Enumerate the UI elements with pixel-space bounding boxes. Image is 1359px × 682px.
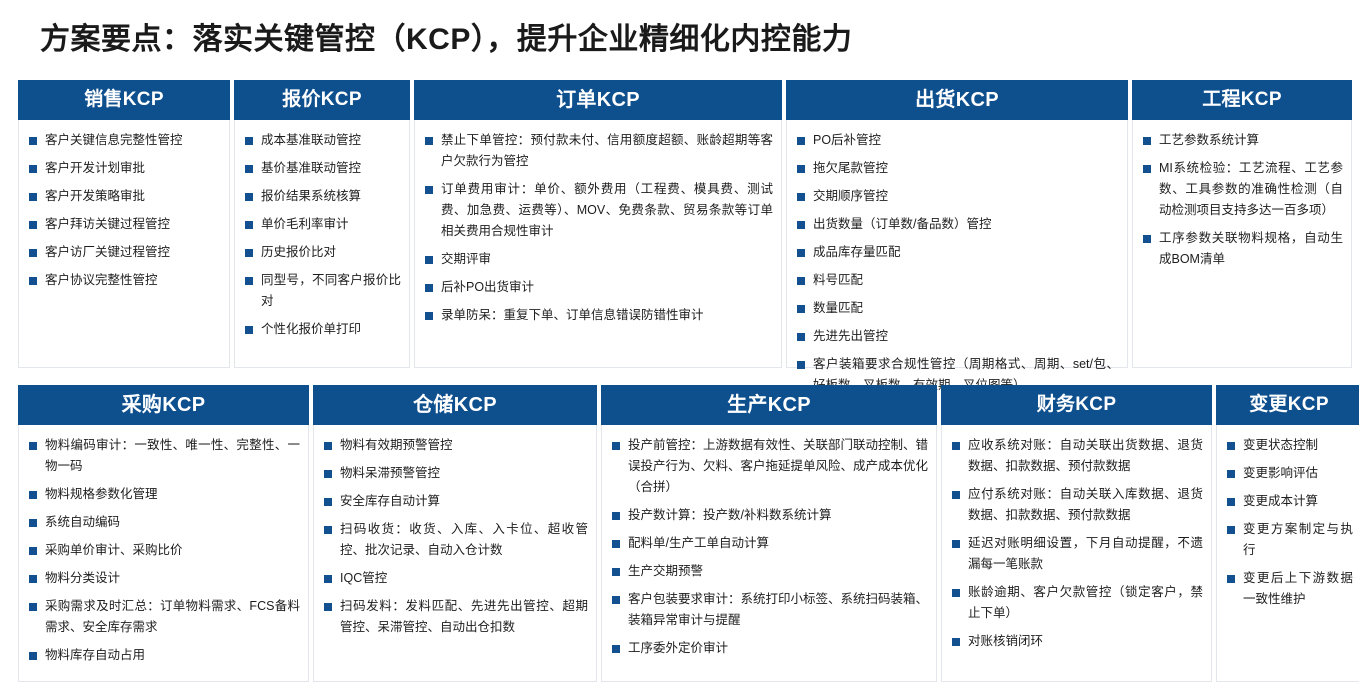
square-bullet-icon	[952, 540, 960, 548]
square-bullet-icon	[425, 284, 433, 292]
list-item: 报价结果系统核算	[243, 186, 401, 207]
square-bullet-icon	[29, 249, 37, 257]
list-item: 客户拜访关键过程管控	[27, 214, 221, 235]
list-item: 订单费用审计：单价、额外费用（工程费、模具费、测试费、加急费、运费等）、MOV、…	[423, 179, 773, 242]
list-item-label: 工序参数关联物料规格，自动生成BOM清单	[1159, 231, 1343, 266]
list-item-label: 个性化报价单打印	[261, 322, 361, 336]
list-item-label: IQC管控	[340, 571, 387, 585]
square-bullet-icon	[952, 491, 960, 499]
square-bullet-icon	[29, 603, 37, 611]
list-item-label: 物料库存自动占用	[45, 648, 145, 662]
kcp-row-1: 销售KCP 客户关键信息完整性管控 客户开发计划审批 客户开发策略审批 客户拜访…	[18, 80, 1344, 368]
list-item: 客户开发计划审批	[27, 158, 221, 179]
square-bullet-icon	[245, 326, 253, 334]
list-item: 交期评审	[423, 249, 773, 270]
square-bullet-icon	[425, 312, 433, 320]
list-item-label: 客户协议完整性管控	[45, 273, 158, 287]
list-item: 安全库存自动计算	[322, 491, 588, 512]
kcp-card-change[interactable]: 变更KCP 变更状态控制 变更影响评估 变更成本计算 变更方案制定与执行 变更后…	[1216, 385, 1359, 682]
square-bullet-icon	[29, 442, 37, 450]
kcp-list-storage: 物料有效期预警管控 物料呆滞预警管控 安全库存自动计算 扫码收货：收货、入库、入…	[322, 435, 588, 638]
square-bullet-icon	[29, 519, 37, 527]
list-item: 物料有效期预警管控	[322, 435, 588, 456]
list-item-label: MI系统检验：工艺流程、工艺参数、工具参数的准确性检测（自动检测项目支持多达一百…	[1159, 161, 1343, 217]
list-item-label: 报价结果系统核算	[261, 189, 361, 203]
list-item-label: 客户开发计划审批	[45, 161, 145, 175]
list-item: 客户包装要求审计：系统打印小标签、系统扫码装箱、装箱异常审计与提醒	[610, 589, 928, 631]
kcp-card-body-sales: 客户关键信息完整性管控 客户开发计划审批 客户开发策略审批 客户拜访关键过程管控…	[19, 120, 229, 367]
kcp-card-title-order: 订单KCP	[414, 80, 782, 120]
square-bullet-icon	[29, 575, 37, 583]
list-item: 历史报价比对	[243, 242, 401, 263]
kcp-card-body-change: 变更状态控制 变更影响评估 变更成本计算 变更方案制定与执行 变更后上下游数据一…	[1217, 425, 1359, 681]
list-item: 录单防呆：重复下单、订单信息错误防错性审计	[423, 305, 773, 326]
list-item-label: 历史报价比对	[261, 245, 336, 259]
list-item: 出货数量（订单数/备品数）管控	[795, 214, 1119, 235]
square-bullet-icon	[797, 165, 805, 173]
square-bullet-icon	[1227, 470, 1235, 478]
square-bullet-icon	[612, 645, 620, 653]
square-bullet-icon	[1143, 137, 1151, 145]
kcp-card-finance[interactable]: 财务KCP 应收系统对账：自动关联出货数据、退货数据、扣款数据、预付款数据 应付…	[941, 385, 1212, 682]
kcp-list-finance: 应收系统对账：自动关联出货数据、退货数据、扣款数据、预付款数据 应付系统对账：自…	[950, 435, 1203, 652]
list-item-label: 工艺参数系统计算	[1159, 133, 1259, 147]
square-bullet-icon	[797, 137, 805, 145]
list-item-label: 安全库存自动计算	[340, 494, 440, 508]
kcp-list-sales: 客户关键信息完整性管控 客户开发计划审批 客户开发策略审批 客户拜访关键过程管控…	[27, 130, 221, 291]
list-item-label: 扫码发料：发料匹配、先进先出管控、超期管控、呆滞管控、自动出仓扣数	[340, 599, 588, 634]
square-bullet-icon	[324, 575, 332, 583]
square-bullet-icon	[952, 442, 960, 450]
square-bullet-icon	[797, 305, 805, 313]
square-bullet-icon	[425, 137, 433, 145]
square-bullet-icon	[29, 193, 37, 201]
list-item: 物料规格参数化管理	[27, 484, 300, 505]
list-item-label: 应付系统对账：自动关联入库数据、退货数据、扣款数据、预付款数据	[968, 487, 1203, 522]
list-item-label: 变更后上下游数据一致性维护	[1243, 571, 1353, 606]
list-item: 基价基准联动管控	[243, 158, 401, 179]
square-bullet-icon	[324, 603, 332, 611]
square-bullet-icon	[797, 193, 805, 201]
list-item: 采购单价审计、采购比价	[27, 540, 300, 561]
kcp-card-body-storage: 物料有效期预警管控 物料呆滞预警管控 安全库存自动计算 扫码收货：收货、入库、入…	[314, 425, 596, 681]
kcp-card-order[interactable]: 订单KCP 禁止下单管控：预付款未付、信用额度超额、账龄超期等客户欠款行为管控 …	[414, 80, 782, 368]
kcp-row-2: 采购KCP 物料编码审计：一致性、唯一性、完整性、一物一码 物料规格参数化管理 …	[18, 385, 1344, 682]
list-item-label: 生产交期预警	[628, 564, 703, 578]
square-bullet-icon	[29, 547, 37, 555]
list-item: 变更影响评估	[1225, 463, 1353, 484]
list-item: 应付系统对账：自动关联入库数据、退货数据、扣款数据、预付款数据	[950, 484, 1203, 526]
kcp-card-body-purchase: 物料编码审计：一致性、唯一性、完整性、一物一码 物料规格参数化管理 系统自动编码…	[19, 425, 308, 681]
kcp-list-change: 变更状态控制 变更影响评估 变更成本计算 变更方案制定与执行 变更后上下游数据一…	[1225, 435, 1353, 610]
square-bullet-icon	[29, 491, 37, 499]
square-bullet-icon	[1227, 526, 1235, 534]
square-bullet-icon	[612, 596, 620, 604]
kcp-list-order: 禁止下单管控：预付款未付、信用额度超额、账龄超期等客户欠款行为管控 订单费用审计…	[423, 130, 773, 326]
list-item-label: 单价毛利率审计	[261, 217, 349, 231]
list-item-label: 基价基准联动管控	[261, 161, 361, 175]
square-bullet-icon	[797, 333, 805, 341]
list-item: 工序委外定价审计	[610, 638, 928, 659]
list-item: 物料呆滞预警管控	[322, 463, 588, 484]
list-item: 成本基准联动管控	[243, 130, 401, 151]
square-bullet-icon	[1227, 498, 1235, 506]
list-item: 成品库存量匹配	[795, 242, 1119, 263]
square-bullet-icon	[425, 256, 433, 264]
kcp-card-production[interactable]: 生产KCP 投产前管控：上游数据有效性、关联部门联动控制、错误投产行为、欠料、客…	[601, 385, 937, 682]
list-item-label: 拖欠尾款管控	[813, 161, 888, 175]
kcp-card-quote[interactable]: 报价KCP 成本基准联动管控 基价基准联动管控 报价结果系统核算 单价毛利率审计…	[234, 80, 410, 368]
list-item-label: 扫码收货：收货、入库、入卡位、超收管控、批次记录、自动入仓计数	[340, 522, 588, 557]
kcp-list-production: 投产前管控：上游数据有效性、关联部门联动控制、错误投产行为、欠料、客户拖延提单风…	[610, 435, 928, 659]
kcp-card-title-change: 变更KCP	[1216, 385, 1359, 425]
list-item: 客户访厂关键过程管控	[27, 242, 221, 263]
square-bullet-icon	[245, 249, 253, 257]
list-item-label: 变更影响评估	[1243, 466, 1318, 480]
list-item-label: 成本基准联动管控	[261, 133, 361, 147]
square-bullet-icon	[612, 568, 620, 576]
square-bullet-icon	[952, 638, 960, 646]
list-item: 变更状态控制	[1225, 435, 1353, 456]
kcp-card-shipping[interactable]: 出货KCP PO后补管控 拖欠尾款管控 交期顺序管控 出货数量（订单数/备品数）…	[786, 80, 1128, 368]
list-item-label: 禁止下单管控：预付款未付、信用额度超额、账龄超期等客户欠款行为管控	[441, 133, 773, 168]
list-item: 应收系统对账：自动关联出货数据、退货数据、扣款数据、预付款数据	[950, 435, 1203, 477]
list-item-label: 采购单价审计、采购比价	[45, 543, 183, 557]
list-item-label: 客户访厂关键过程管控	[45, 245, 170, 259]
list-item: 单价毛利率审计	[243, 214, 401, 235]
list-item-label: 数量匹配	[813, 301, 863, 315]
list-item: 配料单/生产工单自动计算	[610, 533, 928, 554]
square-bullet-icon	[324, 526, 332, 534]
square-bullet-icon	[245, 277, 253, 285]
kcp-card-title-shipping: 出货KCP	[786, 80, 1128, 120]
list-item-label: 成品库存量匹配	[813, 245, 901, 259]
square-bullet-icon	[324, 470, 332, 478]
square-bullet-icon	[29, 137, 37, 145]
list-item-label: 先进先出管控	[813, 329, 888, 343]
list-item-label: 客户包装要求审计：系统打印小标签、系统扫码装箱、装箱异常审计与提醒	[628, 592, 928, 627]
kcp-card-title-engineering: 工程KCP	[1132, 80, 1352, 120]
list-item: 料号匹配	[795, 270, 1119, 291]
kcp-card-title-sales: 销售KCP	[18, 80, 230, 120]
list-item-label: 客户关键信息完整性管控	[45, 133, 183, 147]
kcp-card-engineering[interactable]: 工程KCP 工艺参数系统计算 MI系统检验：工艺流程、工艺参数、工具参数的准确性…	[1132, 80, 1352, 368]
square-bullet-icon	[612, 540, 620, 548]
list-item-label: 后补PO出货审计	[441, 280, 534, 294]
list-item: 变更方案制定与执行	[1225, 519, 1353, 561]
list-item: 账龄逾期、客户欠款管控（锁定客户，禁止下单）	[950, 582, 1203, 624]
list-item: 投产前管控：上游数据有效性、关联部门联动控制、错误投产行为、欠料、客户拖延提单风…	[610, 435, 928, 498]
square-bullet-icon	[29, 652, 37, 660]
square-bullet-icon	[245, 193, 253, 201]
list-item-label: 物料编码审计：一致性、唯一性、完整性、一物一码	[45, 438, 300, 473]
list-item: 禁止下单管控：预付款未付、信用额度超额、账龄超期等客户欠款行为管控	[423, 130, 773, 172]
kcp-list-quote: 成本基准联动管控 基价基准联动管控 报价结果系统核算 单价毛利率审计 历史报价比…	[243, 130, 401, 340]
square-bullet-icon	[324, 498, 332, 506]
square-bullet-icon	[245, 137, 253, 145]
square-bullet-icon	[952, 589, 960, 597]
kcp-card-purchase[interactable]: 采购KCP 物料编码审计：一致性、唯一性、完整性、一物一码 物料规格参数化管理 …	[18, 385, 309, 682]
list-item-label: 客户开发策略审批	[45, 189, 145, 203]
kcp-card-title-finance: 财务KCP	[941, 385, 1212, 425]
list-item-label: 料号匹配	[813, 273, 863, 287]
list-item: 客户关键信息完整性管控	[27, 130, 221, 151]
list-item-label: 账龄逾期、客户欠款管控（锁定客户，禁止下单）	[968, 585, 1203, 620]
kcp-card-sales[interactable]: 销售KCP 客户关键信息完整性管控 客户开发计划审批 客户开发策略审批 客户拜访…	[18, 80, 230, 368]
square-bullet-icon	[29, 277, 37, 285]
square-bullet-icon	[29, 221, 37, 229]
kcp-list-engineering: 工艺参数系统计算 MI系统检验：工艺流程、工艺参数、工具参数的准确性检测（自动检…	[1141, 130, 1343, 270]
square-bullet-icon	[1227, 442, 1235, 450]
list-item-label: 系统自动编码	[45, 515, 120, 529]
list-item: 扫码收货：收货、入库、入卡位、超收管控、批次记录、自动入仓计数	[322, 519, 588, 561]
square-bullet-icon	[245, 165, 253, 173]
list-item: 个性化报价单打印	[243, 319, 401, 340]
square-bullet-icon	[797, 249, 805, 257]
list-item: 工艺参数系统计算	[1141, 130, 1343, 151]
list-item: 交期顺序管控	[795, 186, 1119, 207]
list-item: 采购需求及时汇总：订单物料需求、FCS备料需求、安全库存需求	[27, 596, 300, 638]
list-item-label: 同型号，不同客户报价比对	[261, 273, 401, 308]
list-item-label: 订单费用审计：单价、额外费用（工程费、模具费、测试费、加急费、运费等）、MOV、…	[441, 182, 773, 238]
square-bullet-icon	[1227, 575, 1235, 583]
list-item-label: 物料规格参数化管理	[45, 487, 158, 501]
list-item: 先进先出管控	[795, 326, 1119, 347]
kcp-card-title-purchase: 采购KCP	[18, 385, 309, 425]
kcp-card-body-quote: 成本基准联动管控 基价基准联动管控 报价结果系统核算 单价毛利率审计 历史报价比…	[235, 120, 409, 367]
page-title: 方案要点：落实关键管控（KCP），提升企业精细化内控能力	[40, 14, 852, 58]
square-bullet-icon	[612, 512, 620, 520]
list-item-label: 客户拜访关键过程管控	[45, 217, 170, 231]
list-item-label: 物料有效期预警管控	[340, 438, 453, 452]
list-item: 同型号，不同客户报价比对	[243, 270, 401, 312]
list-item: 物料分类设计	[27, 568, 300, 589]
list-item: 工序参数关联物料规格，自动生成BOM清单	[1141, 228, 1343, 270]
list-item: 后补PO出货审计	[423, 277, 773, 298]
kcp-card-body-production: 投产前管控：上游数据有效性、关联部门联动控制、错误投产行为、欠料、客户拖延提单风…	[602, 425, 936, 681]
list-item: 对账核销闭环	[950, 631, 1203, 652]
list-item: 数量匹配	[795, 298, 1119, 319]
list-item: 物料编码审计：一致性、唯一性、完整性、一物一码	[27, 435, 300, 477]
list-item: 物料库存自动占用	[27, 645, 300, 666]
list-item: 系统自动编码	[27, 512, 300, 533]
square-bullet-icon	[425, 186, 433, 194]
list-item: 客户协议完整性管控	[27, 270, 221, 291]
list-item: MI系统检验：工艺流程、工艺参数、工具参数的准确性检测（自动检测项目支持多达一百…	[1141, 158, 1343, 221]
list-item: IQC管控	[322, 568, 588, 589]
kcp-card-title-production: 生产KCP	[601, 385, 937, 425]
list-item: PO后补管控	[795, 130, 1119, 151]
list-item: 扫码发料：发料匹配、先进先出管控、超期管控、呆滞管控、自动出仓扣数	[322, 596, 588, 638]
list-item-label: 交期顺序管控	[813, 189, 888, 203]
kcp-card-title-storage: 仓储KCP	[313, 385, 597, 425]
square-bullet-icon	[324, 442, 332, 450]
square-bullet-icon	[29, 165, 37, 173]
list-item-label: 变更方案制定与执行	[1243, 522, 1353, 557]
list-item-label: 投产前管控：上游数据有效性、关联部门联动控制、错误投产行为、欠料、客户拖延提单风…	[628, 438, 928, 494]
square-bullet-icon	[797, 277, 805, 285]
list-item-label: 投产数计算：投产数/补料数系统计算	[628, 508, 831, 522]
list-item: 拖欠尾款管控	[795, 158, 1119, 179]
square-bullet-icon	[1143, 165, 1151, 173]
list-item-label: 对账核销闭环	[968, 634, 1043, 648]
list-item-label: 工序委外定价审计	[628, 641, 728, 655]
list-item-label: 录单防呆：重复下单、订单信息错误防错性审计	[441, 308, 704, 322]
list-item-label: 变更成本计算	[1243, 494, 1318, 508]
list-item: 生产交期预警	[610, 561, 928, 582]
kcp-card-storage[interactable]: 仓储KCP 物料有效期预警管控 物料呆滞预警管控 安全库存自动计算 扫码收货：收…	[313, 385, 597, 682]
slide-root: 方案要点：落实关键管控（KCP），提升企业精细化内控能力 销售KCP 客户关键信…	[0, 0, 1359, 682]
list-item-label: 延迟对账明细设置，下月自动提醒，不遗漏每一笔账款	[968, 536, 1203, 571]
kcp-card-body-finance: 应收系统对账：自动关联出货数据、退货数据、扣款数据、预付款数据 应付系统对账：自…	[942, 425, 1211, 681]
square-bullet-icon	[797, 361, 805, 369]
square-bullet-icon	[1143, 235, 1151, 243]
kcp-card-body-engineering: 工艺参数系统计算 MI系统检验：工艺流程、工艺参数、工具参数的准确性检测（自动检…	[1133, 120, 1351, 367]
kcp-card-title-quote: 报价KCP	[234, 80, 410, 120]
list-item-label: 交期评审	[441, 252, 491, 266]
list-item-label: 应收系统对账：自动关联出货数据、退货数据、扣款数据、预付款数据	[968, 438, 1203, 473]
list-item-label: 变更状态控制	[1243, 438, 1318, 452]
list-item: 变更后上下游数据一致性维护	[1225, 568, 1353, 610]
list-item: 变更成本计算	[1225, 491, 1353, 512]
kcp-card-body-shipping: PO后补管控 拖欠尾款管控 交期顺序管控 出货数量（订单数/备品数）管控 成品库…	[787, 120, 1127, 409]
list-item: 投产数计算：投产数/补料数系统计算	[610, 505, 928, 526]
kcp-card-body-order: 禁止下单管控：预付款未付、信用额度超额、账龄超期等客户欠款行为管控 订单费用审计…	[415, 120, 781, 367]
square-bullet-icon	[245, 221, 253, 229]
list-item-label: 物料分类设计	[45, 571, 120, 585]
list-item-label: 物料呆滞预警管控	[340, 466, 440, 480]
list-item: 延迟对账明细设置，下月自动提醒，不遗漏每一笔账款	[950, 533, 1203, 575]
square-bullet-icon	[797, 221, 805, 229]
kcp-list-shipping: PO后补管控 拖欠尾款管控 交期顺序管控 出货数量（订单数/备品数）管控 成品库…	[795, 130, 1119, 396]
list-item-label: 配料单/生产工单自动计算	[628, 536, 769, 550]
list-item-label: 采购需求及时汇总：订单物料需求、FCS备料需求、安全库存需求	[45, 599, 300, 634]
list-item-label: 出货数量（订单数/备品数）管控	[813, 217, 991, 231]
square-bullet-icon	[612, 442, 620, 450]
list-item-label: PO后补管控	[813, 133, 881, 147]
list-item: 客户开发策略审批	[27, 186, 221, 207]
kcp-list-purchase: 物料编码审计：一致性、唯一性、完整性、一物一码 物料规格参数化管理 系统自动编码…	[27, 435, 300, 666]
